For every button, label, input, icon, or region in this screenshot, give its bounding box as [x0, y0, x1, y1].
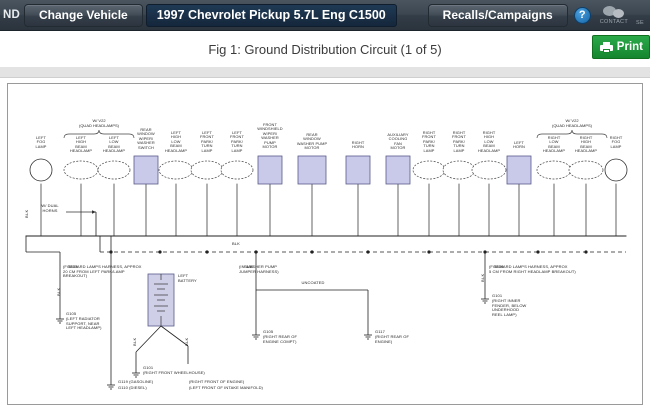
change-vehicle-button[interactable]: Change Vehicle [24, 4, 143, 27]
dual-horns-label: W/ DUAL HORNS [34, 204, 66, 213]
battery-symbol [136, 274, 188, 370]
component-label-left-fog-lamp: LEFT FOG LAMP [26, 136, 56, 149]
ground-g119-id: G119 (GASOLINE) [118, 380, 153, 385]
component-label-right-front-park-turn-1: RIGHT FRONT PARK/ TURN LAMP [412, 131, 446, 153]
ground-g117-desc: (RIGHT REAR OF ENGINE) [375, 335, 409, 344]
component-label-left-high-low-beam: LEFT HIGH LOW BEAM HEADLAMP [159, 131, 193, 153]
wire-label-blk-center: BLK [232, 242, 240, 247]
contact-label: CONTACT [600, 19, 628, 25]
wire-label-blk-battery-right: BLK [184, 338, 189, 346]
ground-g119-desc: (RIGHT FRONT OF ENGINE) [189, 380, 244, 385]
speech-bubble-icon [603, 6, 625, 19]
print-button[interactable]: Print [592, 35, 650, 59]
battery-label: LEFT BATTERY [178, 274, 197, 283]
ground-g105-engine-compt-desc: (RIGHT REAR OF ENGINE COMPT) [263, 335, 297, 344]
divider-bar [0, 67, 650, 78]
ground-g101-wheelhouse-desc: (RIGHT FRONT WHEELHOUSE) [143, 371, 205, 376]
component-symbols [30, 156, 627, 184]
component-label-right-high-low-beam: RIGHT HIGH LOW BEAM HEADLAMP [472, 131, 506, 153]
page-title: Fig 1: Ground Distribution Circuit (1 of… [208, 42, 441, 57]
wiring-diagram-svg [8, 84, 643, 404]
component-label-right-horn: RIGHT HORN [341, 141, 375, 150]
ground-g110-desc: (LEFT FRONT OF INTAKE MANIFOLD) [189, 386, 263, 391]
top-navigation-bar: ND Change Vehicle 1997 Chevrolet Pickup … [0, 0, 650, 31]
splice-s126-desc: (FORWARD LAMPS HARNESS, APPROX 5 CM FROM… [489, 265, 576, 274]
wire-label-blk-right-rail: BLK [480, 274, 485, 282]
component-label-left-front-park-turn-2: LEFT FRONT PARK/ TURN LAMP [220, 131, 254, 153]
component-label-rear-window-washer-pump: REAR WINDOW WASHER PUMP MOTOR [290, 133, 334, 151]
component-label-right-fog-lamp: RIGHT FOG LAMP [601, 136, 631, 149]
ground-g101-fender-desc: (RIGHT INNER FENDER, BELOW UNDERHOOD REE… [492, 299, 526, 317]
menu-icon [636, 4, 644, 20]
component-label-left-low-beam: LEFT LOW BEAM HEADLAMP [97, 136, 131, 154]
figure-title-bar: Fig 1: Ground Distribution Circuit (1 of… [0, 31, 650, 67]
splice-s155-desc: (IN WASHER PUMP JUMPER HARNESS) [239, 265, 279, 274]
component-label-front-windshield-wiper-pump: FRONT WINDSHIELD WIPER/ WASHER PUMP MOTO… [253, 123, 287, 149]
settings-edge-label: SE [636, 20, 644, 26]
nav-partial-label: ND [2, 9, 23, 21]
component-label-auxiliary-cooling-fan: AUXILIARY COOLING FAN MOTOR [381, 133, 415, 151]
settings-edge-button[interactable]: SE [636, 4, 644, 26]
wire-label-blk-battery-left: BLK [132, 338, 137, 346]
vehicle-title[interactable]: 1997 Chevrolet Pickup 5.7L Eng C1500 [146, 4, 397, 27]
component-label-rear-window-wiper-washer-switch: REAR WINDOW WIPER/ WASHER SWITCH [131, 128, 161, 150]
component-label-right-front-park-turn-2: RIGHT FRONT PARK/ TURN LAMP [442, 131, 476, 153]
component-label-right-low-beam: RIGHT LOW BEAM HEADLAMP [537, 136, 571, 154]
component-label-right-high-beam: RIGHT HIGH BEAM HEADLAMP [569, 136, 603, 154]
help-icon[interactable]: ? [574, 7, 591, 24]
splice-s123-desc: (FORWARD LAMPS HARNESS, APPROX 20 CM FRO… [63, 265, 142, 279]
wire-label-blk-left-ground: BLK [56, 288, 61, 296]
wire-label-blk-left-bus: BLK [24, 210, 29, 218]
group-label-left-quad: W/ V22 (QUAD HEADLAMPS) [44, 119, 154, 128]
printer-icon [600, 42, 613, 53]
component-label-left-front-park-turn-1: LEFT FRONT PARK/ TURN LAMP [190, 131, 224, 153]
wiring-diagram-canvas[interactable]: W/ V22 (QUAD HEADLAMPS) W/ V22 (QUAD HEA… [7, 83, 643, 405]
component-label-left-horn: LEFT HORN [502, 141, 536, 150]
contact-button[interactable]: CONTACT [600, 6, 628, 25]
ground-g110-id: G110 (DIESEL) [118, 386, 147, 391]
uncoated-label: UNCOATED [278, 281, 348, 286]
component-label-left-high-beam: LEFT HIGH BEAM HEADLAMP [64, 136, 98, 154]
recalls-campaigns-button[interactable]: Recalls/Campaigns [428, 4, 568, 27]
group-label-right-quad: W/ V22 (QUAD HEADLAMPS) [517, 119, 627, 128]
print-label: Print [617, 41, 643, 53]
ground-g105-left-desc: (LEFT RADIATOR SUPPORT, NEAR LEFT HEADLA… [66, 317, 102, 331]
